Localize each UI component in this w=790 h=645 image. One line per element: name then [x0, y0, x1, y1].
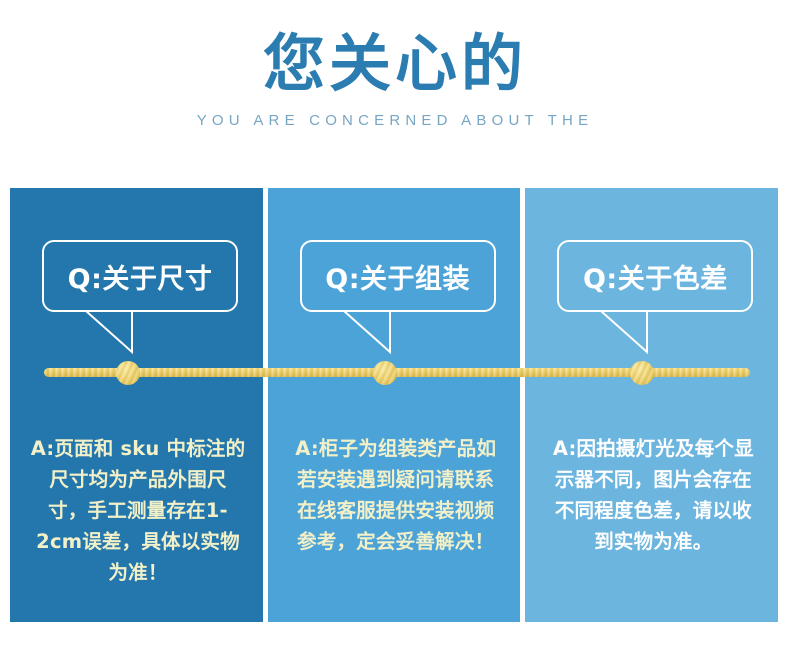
bubble-tail-icon	[601, 310, 665, 352]
answer-text-size: A:页面和 sku 中标注的尺寸均为产品外围尺寸，手工测量存在1-2cm误差，具…	[30, 433, 246, 588]
page-subtitle: YOU ARE CONCERNED ABOUT THE	[0, 112, 790, 130]
faq-panel-size: Q:关于尺寸 A:页面和 sku 中标注的尺寸均为产品外围尺寸，手工测量存在1-…	[10, 188, 263, 622]
faq-banner: 您关心的 YOU ARE CONCERNED ABOUT THE Q:关于尺寸 …	[0, 0, 790, 645]
header: 您关心的 YOU ARE CONCERNED ABOUT THE	[0, 28, 790, 130]
question-bubble-color: Q:关于色差	[557, 240, 753, 312]
gold-divider-node	[630, 361, 654, 385]
question-label: Q:关于尺寸	[68, 257, 213, 296]
gold-divider-node	[116, 361, 140, 385]
question-bubble-box: Q:关于色差	[557, 240, 753, 312]
answer-text-color: A:因拍摄灯光及每个显示器不同，图片会存在不同程度色差，请以收到实物为准。	[545, 433, 761, 557]
question-label: Q:关于色差	[583, 257, 728, 296]
question-bubble-box: Q:关于尺寸	[42, 240, 238, 312]
faq-panel-assembly: Q:关于组装 A:柜子为组装类产品如若安装遇到疑问请联系在线客服提供安装视频参考…	[268, 188, 521, 622]
question-bubble-assembly: Q:关于组装	[300, 240, 496, 312]
faq-panel-color: Q:关于色差 A:因拍摄灯光及每个显示器不同，图片会存在不同程度色差，请以收到实…	[525, 188, 778, 622]
page-title: 您关心的	[0, 28, 790, 100]
answer-text-assembly: A:柜子为组装类产品如若安装遇到疑问请联系在线客服提供安装视频参考，定会妥善解决…	[288, 433, 504, 557]
gold-divider-node	[373, 361, 397, 385]
bubble-tail-icon	[344, 310, 408, 352]
faq-panel-group: Q:关于尺寸 A:页面和 sku 中标注的尺寸均为产品外围尺寸，手工测量存在1-…	[10, 188, 778, 622]
question-bubble-size: Q:关于尺寸	[42, 240, 238, 312]
question-label: Q:关于组装	[325, 257, 470, 296]
question-bubble-box: Q:关于组装	[300, 240, 496, 312]
bubble-tail-icon	[86, 310, 150, 352]
